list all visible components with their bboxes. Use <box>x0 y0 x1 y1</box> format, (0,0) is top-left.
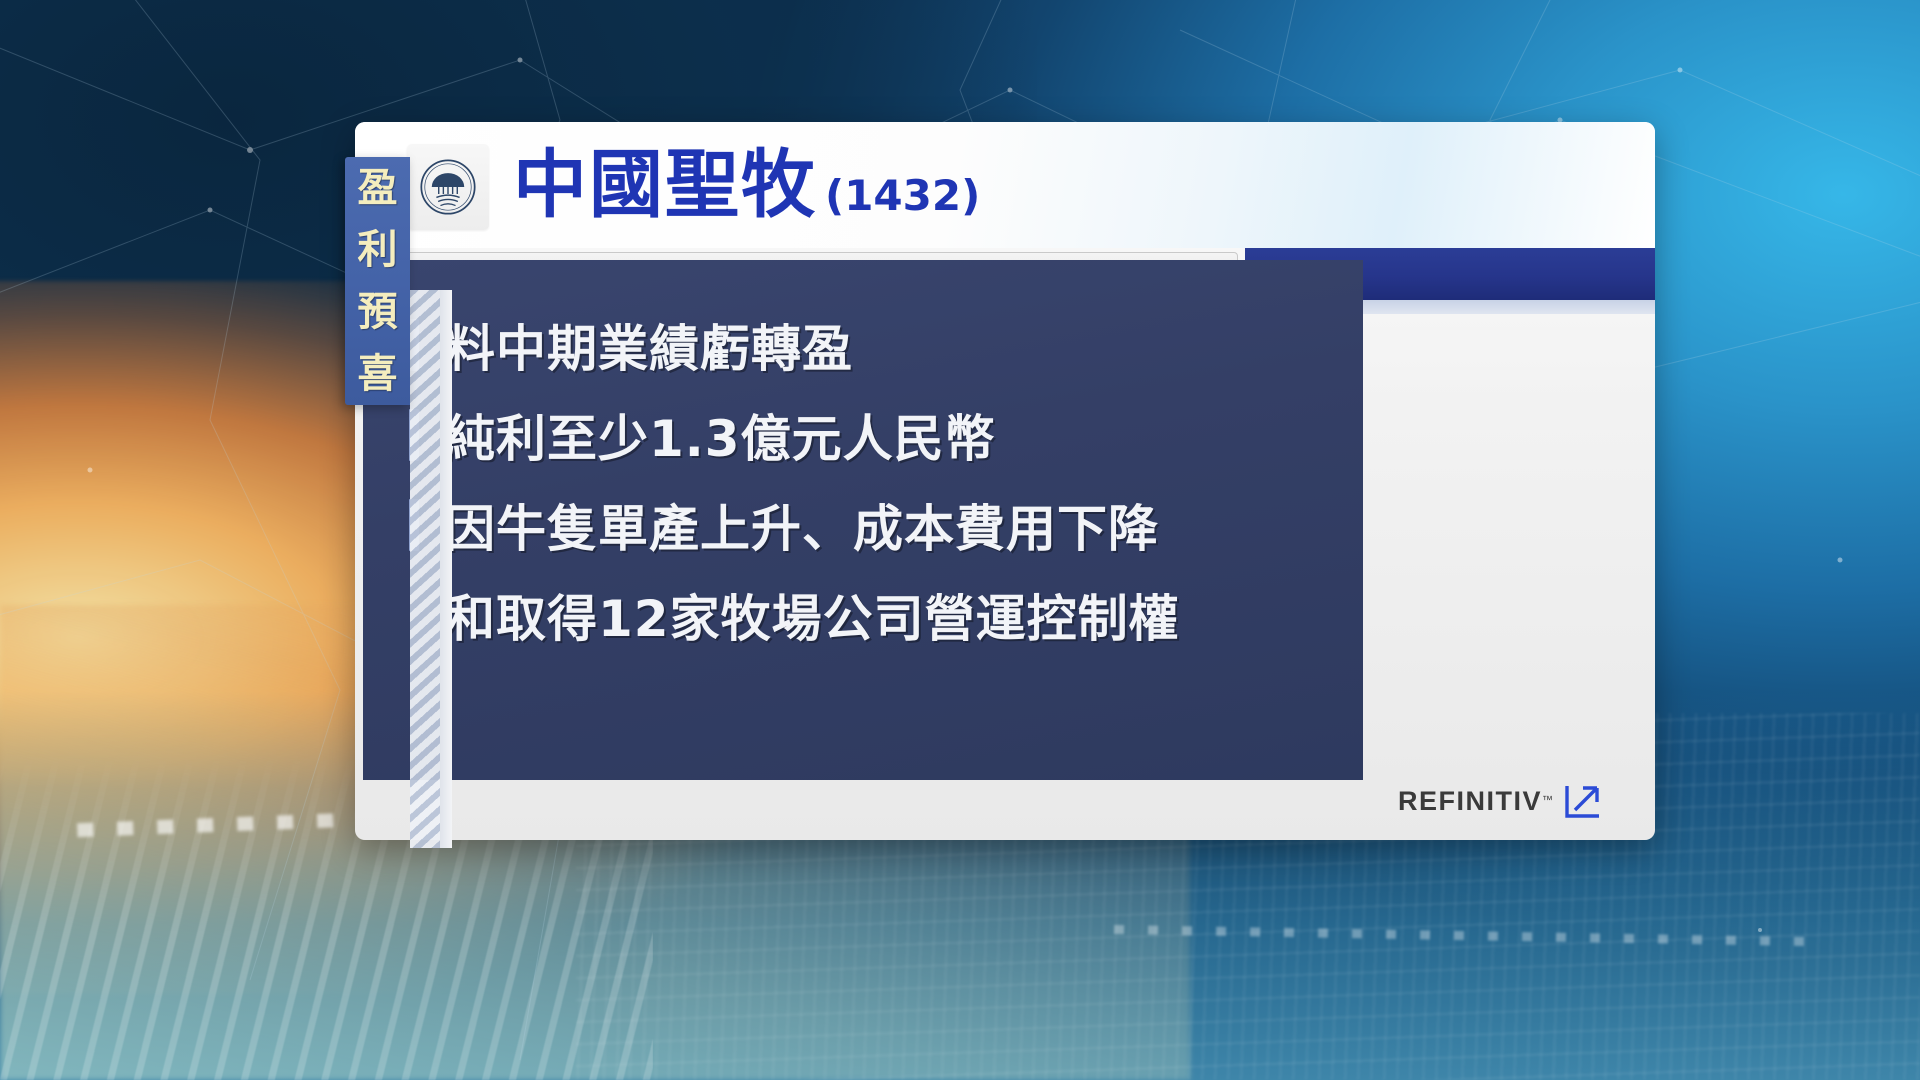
refinitiv-wordmark-wrap: REFINITIV™ <box>1398 786 1553 817</box>
bullet-text: 因牛隻單產上升、成本費用下降 <box>445 489 1159 561</box>
title-block: 中國聖牧 (1432) <box>513 148 980 222</box>
decorative-hatch-strip <box>410 290 440 848</box>
trademark-symbol: ™ <box>1542 794 1553 806</box>
decorative-hatch-edge <box>440 290 452 848</box>
bullet-text: 料中期業績虧轉盈 <box>445 309 853 381</box>
category-tab: 盈 利 預 喜 <box>345 157 410 405</box>
category-tab-char-1: 利 <box>358 219 398 281</box>
list-item: 料中期業績虧轉盈 <box>409 300 1363 390</box>
stock-code: (1432) <box>825 171 980 220</box>
list-item: 和取得12家牧場公司營運控制權 <box>409 570 1363 660</box>
category-tab-char-0: 盈 <box>358 157 398 219</box>
refinitiv-wordmark: REFINITIV <box>1398 786 1542 816</box>
bullet-text: 純利至少1.3億元人民幣 <box>445 399 996 471</box>
refinitiv-arrow-icon <box>1565 784 1601 818</box>
list-item: 因牛隻單產上升、成本費用下降 <box>409 480 1363 570</box>
list-item: 純利至少1.3億元人民幣 <box>409 390 1363 480</box>
refinitiv-attribution: REFINITIV™ <box>1398 784 1601 818</box>
company-name: 中國聖牧 <box>513 148 817 222</box>
card-header: 中國聖牧 (1432) <box>355 122 1655 248</box>
category-tab-char-3: 喜 <box>358 343 398 405</box>
bullet-panel: 料中期業績虧轉盈 純利至少1.3億元人民幣 因牛隻單產上升、成本費用下降 和取得… <box>363 260 1363 780</box>
news-card: 中國聖牧 (1432) 料中期業績虧轉盈 純利至少1.3億元人民幣 因牛隻單產上… <box>355 122 1655 840</box>
company-seal-icon <box>407 144 489 230</box>
bullet-text: 和取得12家牧場公司營運控制權 <box>445 579 1180 651</box>
category-tab-char-2: 預 <box>358 281 398 343</box>
